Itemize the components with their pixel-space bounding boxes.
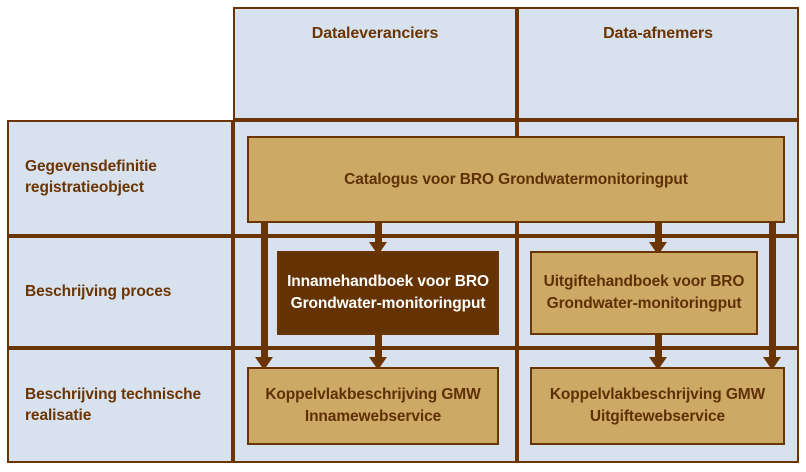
connector-stem — [655, 334, 662, 359]
column-header-dataleveranciers: Dataleveranciers — [233, 7, 517, 120]
connector-stem — [261, 222, 268, 359]
connector-catalogus-to-koppelvlak-uitgifte — [769, 222, 776, 370]
connector-innamehandboek-to-koppelvlak-inname — [375, 334, 382, 370]
row-header-beschrijving-proces: Beschrijving proces — [7, 236, 233, 348]
connector-stem — [375, 222, 382, 244]
row-header-gegevensdefinitie: Gegevensdefinitie registratieobject — [7, 120, 233, 236]
column-header-label: Data-afnemers — [603, 23, 713, 45]
column-header-data-afnemers: Data-afnemers — [517, 7, 799, 120]
connector-stem — [655, 222, 662, 244]
box-koppelvlak-uitgifte[interactable]: Koppelvlakbeschrijving GMW Uitgiftewebse… — [530, 367, 785, 445]
column-header-label: Dataleveranciers — [312, 23, 439, 45]
box-label: Koppelvlakbeschrijving GMW Innamewebserv… — [249, 384, 497, 427]
row-header-label: Beschrijving technische realisatie — [25, 385, 231, 427]
connector-stem — [375, 334, 382, 359]
row-header-label: Gegevensdefinitie registratieobject — [25, 157, 231, 199]
box-label: Catalogus voor BRO Grondwatermonitoringp… — [336, 169, 696, 191]
row-header-beschrijving-technische-realisatie: Beschrijving technische realisatie — [7, 348, 233, 463]
connector-catalogus-to-koppelvlak-inname — [261, 222, 268, 370]
box-label: Uitgiftehandboek voor BRO Grondwater-mon… — [532, 271, 756, 314]
connector-stem — [769, 222, 776, 359]
box-uitgiftehandboek[interactable]: Uitgiftehandboek voor BRO Grondwater-mon… — [530, 251, 758, 335]
box-koppelvlak-inname[interactable]: Koppelvlakbeschrijving GMW Innamewebserv… — [247, 367, 499, 445]
box-catalogus[interactable]: Catalogus voor BRO Grondwatermonitoringp… — [247, 136, 785, 223]
row-header-label: Beschrijving proces — [25, 282, 171, 303]
box-innamehandboek[interactable]: Innamehandboek voor BRO Grondwater-monit… — [277, 251, 499, 335]
connector-uitgiftehandboek-to-koppelvlak-uitgifte — [655, 334, 662, 370]
box-label: Innamehandboek voor BRO Grondwater-monit… — [279, 271, 497, 314]
documentation-structure-diagram: Dataleveranciers Data-afnemers Gegevensd… — [0, 0, 806, 472]
box-label: Koppelvlakbeschrijving GMW Uitgiftewebse… — [532, 384, 783, 427]
